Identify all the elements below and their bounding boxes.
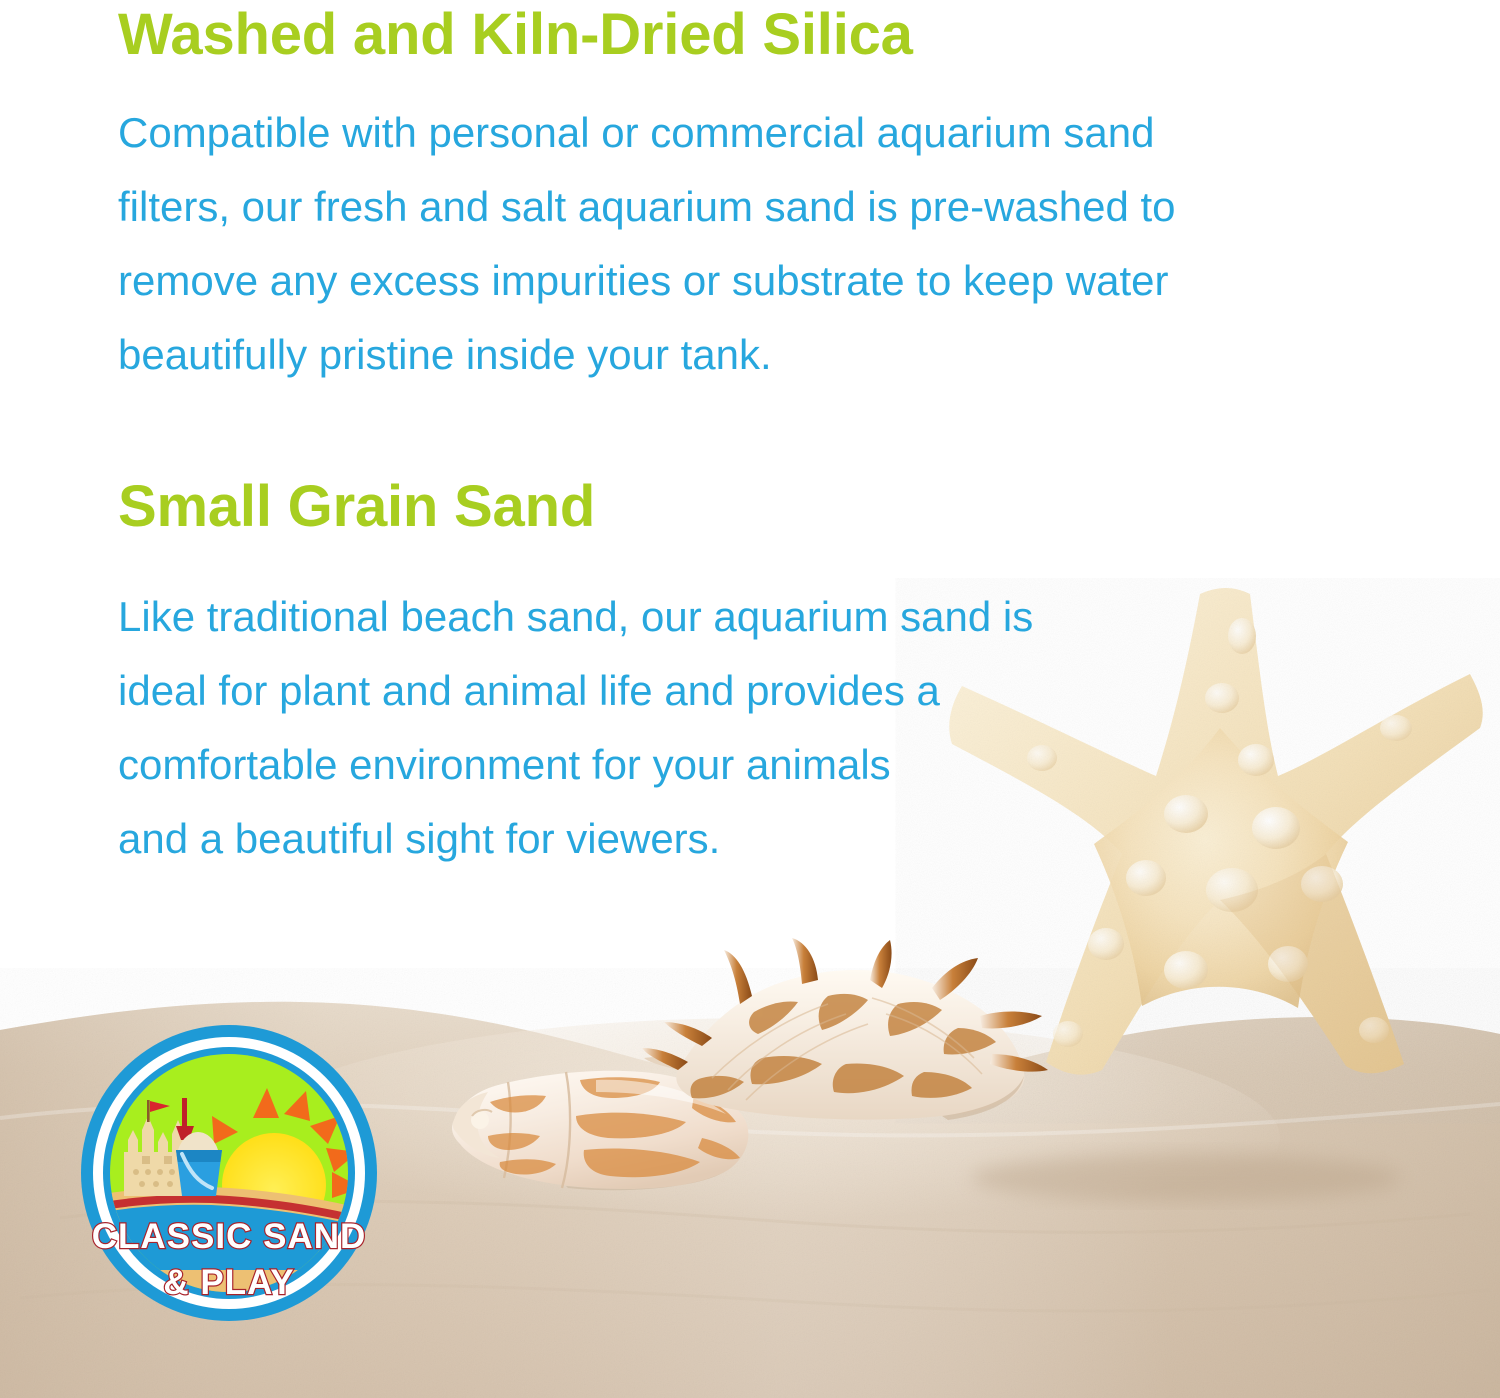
section-2-line-1: Like traditional beach sand, our aquariu…: [118, 580, 1033, 654]
section-2-heading: Small Grain Sand: [118, 478, 595, 536]
product-feature-panel: CLASSIC SAND & PLAY Washed and Kiln-Drie…: [0, 0, 1500, 1398]
section-2-line-3: comfortable environment for your animals: [118, 728, 1033, 802]
section-2-paragraph: Like traditional beach sand, our aquariu…: [118, 580, 1033, 876]
section-1-heading: Washed and Kiln-Dried Silica: [118, 6, 913, 64]
section-1-line-1: Compatible with personal or commercial a…: [118, 96, 1176, 170]
section-1-line-2: filters, our fresh and salt aquarium san…: [118, 170, 1176, 244]
section-1-line-3: remove any excess impurities or substrat…: [118, 244, 1176, 318]
murex-spiny-shell: [642, 938, 1054, 1138]
logo-text-line1: CLASSIC SAND: [92, 1217, 367, 1256]
section-1-paragraph: Compatible with personal or commercial a…: [118, 96, 1176, 392]
section-2-line-4: and a beautiful sight for viewers.: [118, 802, 1033, 876]
section-2-line-2: ideal for plant and animal life and prov…: [118, 654, 1033, 728]
section-1-line-4: beautifully pristine inside your tank.: [118, 318, 1176, 392]
logo-text-line2: & PLAY: [163, 1263, 294, 1302]
classic-sand-and-play-logo[interactable]: CLASSIC SAND & PLAY: [78, 1022, 380, 1324]
